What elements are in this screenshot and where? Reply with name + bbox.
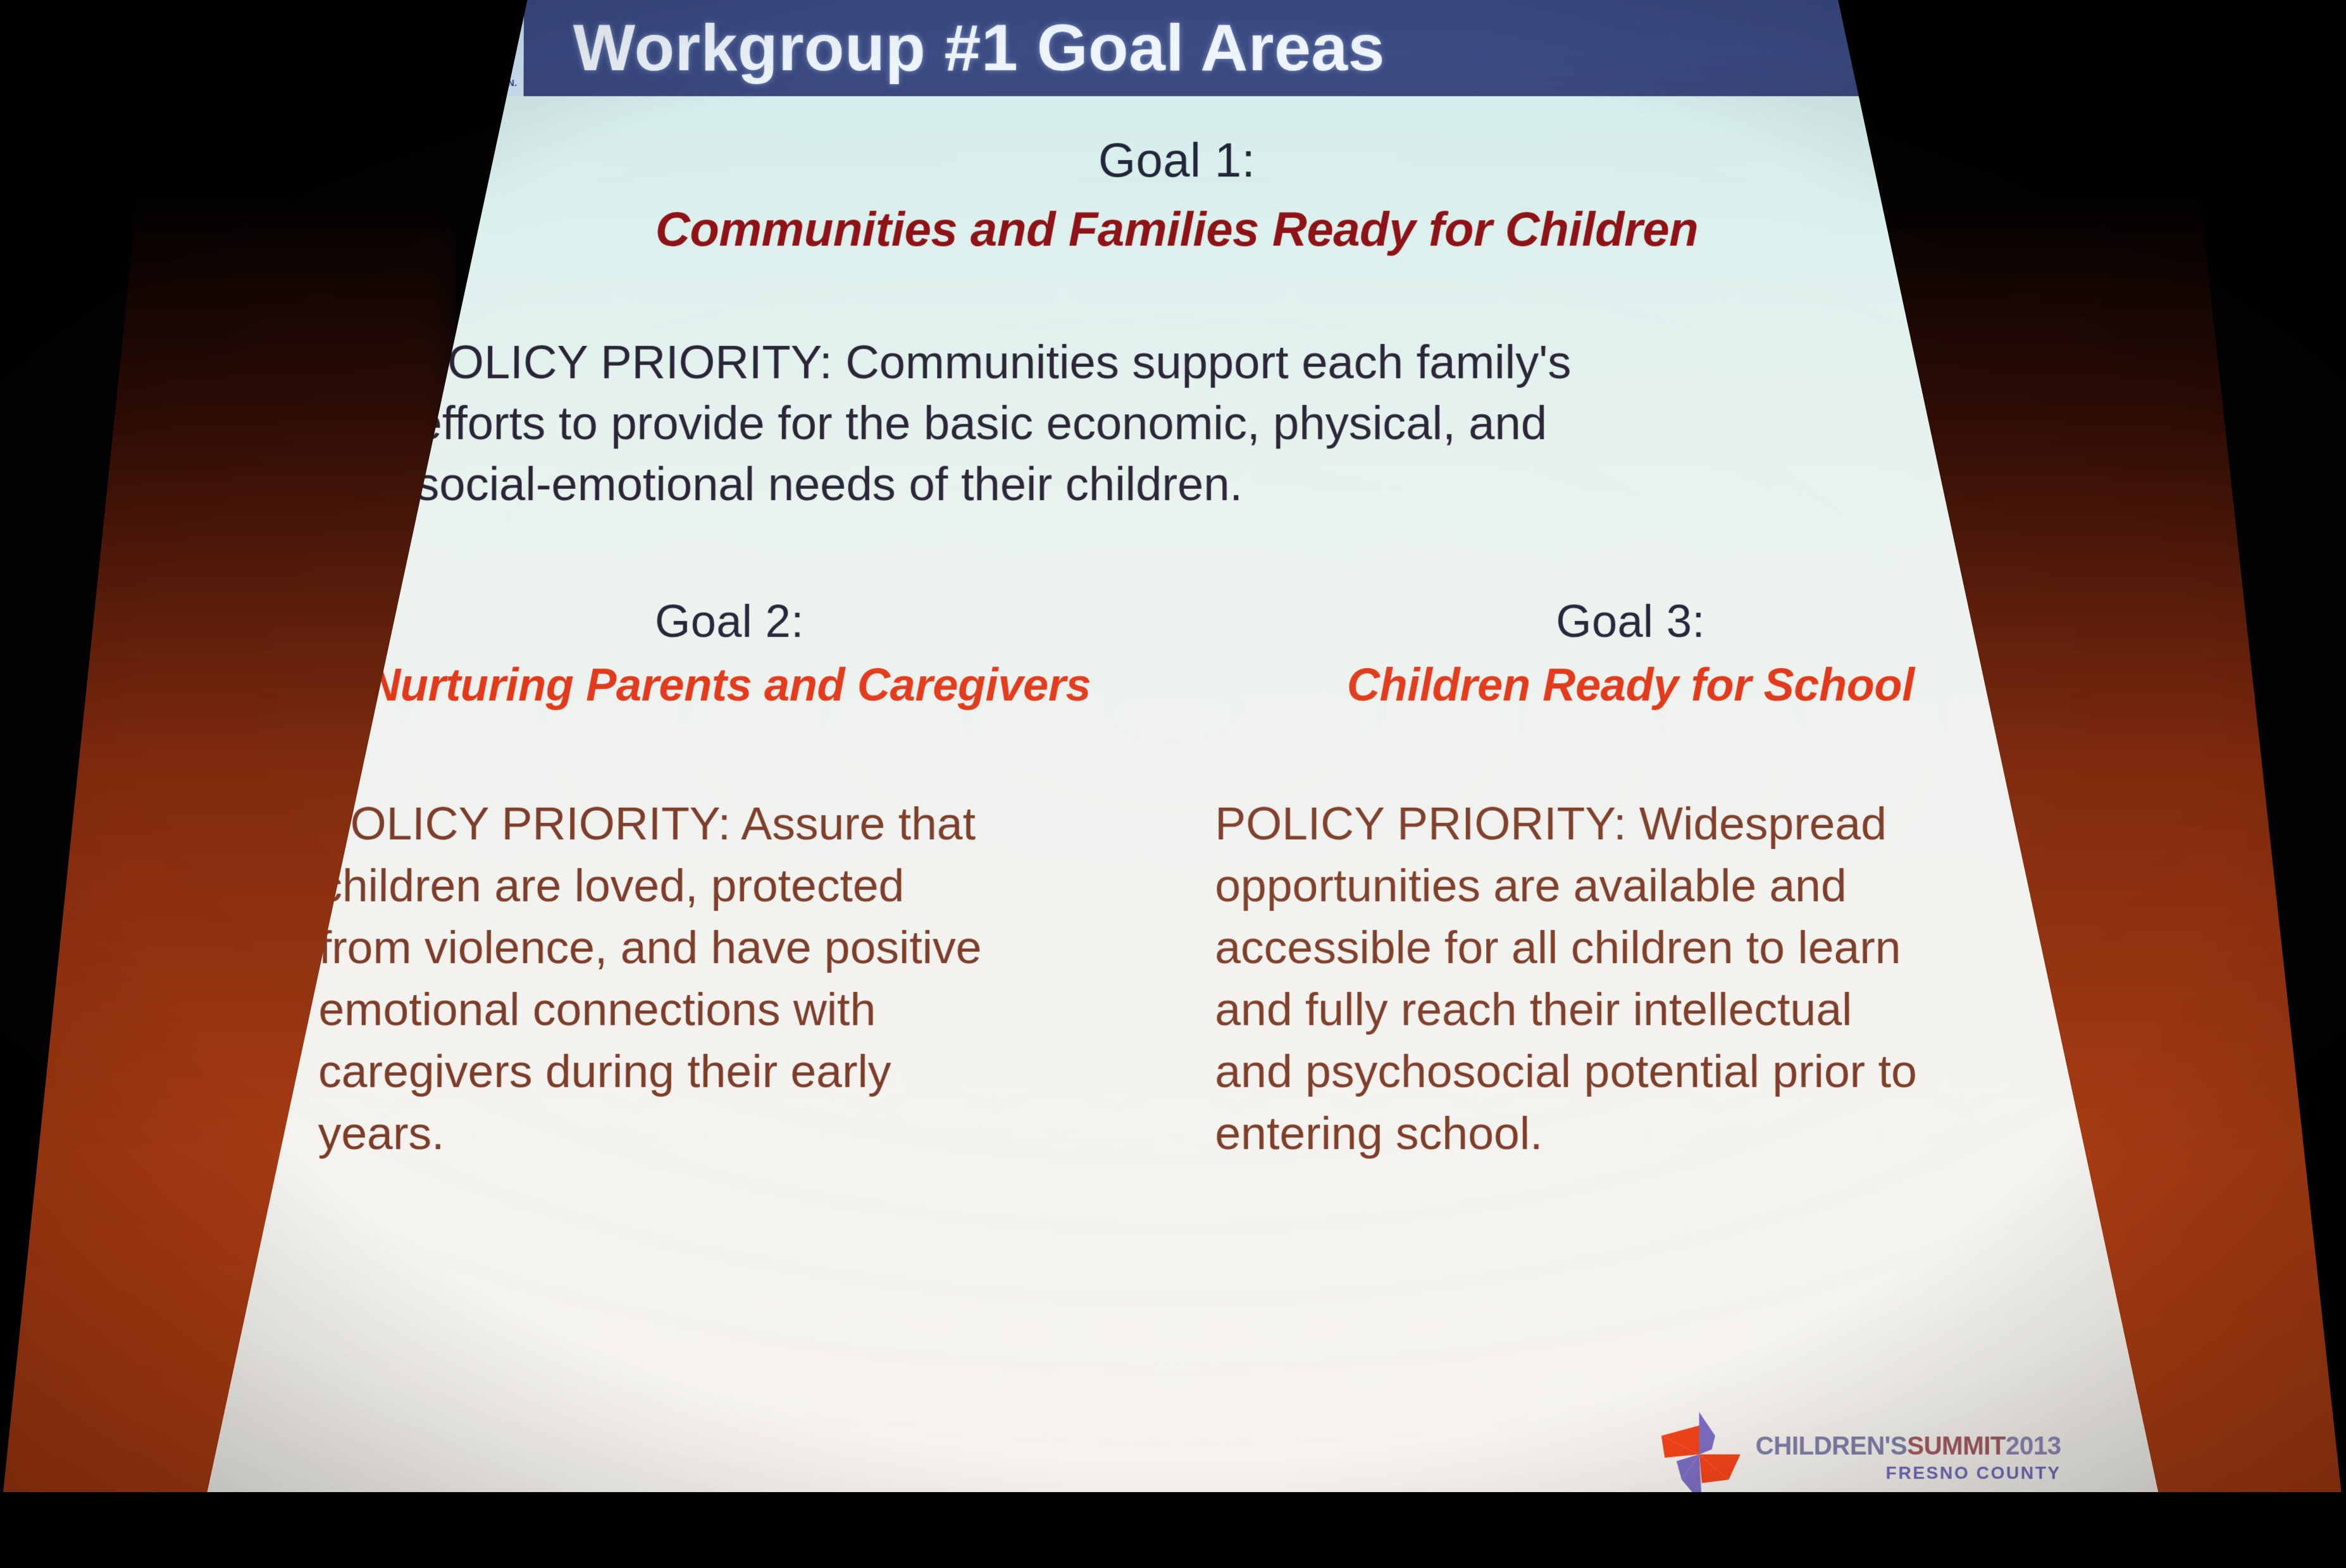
goal-2-kicker: Goal 2: [320,595,1139,647]
goal-2-section: Goal 2: Nurturing Parents and Caregivers… [299,595,1177,1164]
summit-brand-childrens: CHILDREN'S [1756,1433,1908,1461]
policy-line: from violence, and have positive [319,917,1139,978]
projected-slide: COLLECTIVE FOCUS. [190,0,2164,1518]
policy-line: children are loved, protected [319,855,1139,917]
collective-focus-logo: COLLECTIVE FOCUS. [314,0,524,96]
summit-wordmark: CHILDREN'SSUMMIT2013 FRESNO COUNTY [1756,1433,2061,1483]
policy-line: POLICY PRIORITY: Widespread [1215,793,2047,855]
childrens-summit-logo: CHILDREN'SSUMMIT2013 FRESNO COUNTY [1660,1410,2061,1506]
stage-floor [0,1492,2346,1568]
goal-1-kicker: Goal 1: [303,133,2051,188]
summit-brand-year: 2013 [2006,1433,2061,1461]
goal-3-kicker: Goal 3: [1215,595,2046,647]
slide-title-bar: COLLECTIVE FOCUS. [189,0,2164,96]
page-title: Workgroup #1 Goal Areas [573,10,1385,85]
policy-line: entering school. [1215,1102,2048,1164]
goal-1-section: Goal 1: Communities and Families Ready f… [302,133,2052,515]
summit-subtitle: FRESNO COUNTY [1756,1464,2061,1483]
goal-columns: Goal 2: Nurturing Parents and Caregivers… [299,595,2054,1164]
policy-line: emotional connections with [318,978,1138,1040]
slide-body: Goal 1: Communities and Families Ready f… [183,96,2171,1529]
policy-line: efforts to provide for the basic economi… [416,393,1975,454]
goal-1-title: Communities and Families Ready for Child… [302,202,2051,257]
goal-2-policy: POLICY PRIORITY: Assure that children ar… [318,793,1138,1164]
photo-stage: COLLECTIVE FOCUS. [0,0,2346,1568]
policy-line: years. [318,1102,1138,1164]
goal-3-policy: POLICY PRIORITY: Widespread opportunitie… [1215,793,2048,1164]
policy-line: opportunities are available and [1215,855,2047,917]
logo-top-label: COLLECTIVE FOCUS. [324,5,425,15]
goal-3-title: Children Ready for School [1215,659,2046,712]
goal-1-policy: POLICY PRIORITY: Communities support eac… [302,332,2052,515]
goal-2-title: Nurturing Parents and Caregivers [320,659,1138,712]
gears-icon [314,0,524,96]
policy-line: and psychosocial potential prior to [1215,1040,2048,1102]
logo-bottom-label: ALIGNED ACTION. [431,78,518,89]
policy-line: caregivers during their early [318,1040,1139,1102]
summit-brand-line: CHILDREN'SSUMMIT2013 [1756,1433,2061,1460]
policy-line: POLICY PRIORITY: Communities support eac… [416,332,1976,393]
policy-line: and fully reach their intellectual [1215,978,2048,1040]
policy-line: accessible for all children to learn [1215,917,2047,978]
slide-surface: COLLECTIVE FOCUS. [183,0,2171,1529]
policy-line: POLICY PRIORITY: Assure that [319,793,1138,855]
goal-3-section: Goal 3: Children Ready for School POLICY… [1177,595,2055,1164]
summit-brand-summit: SUMMIT [1907,1433,2006,1461]
policy-line: social-emotional needs of their children… [416,454,1976,515]
pinwheel-icon [1660,1410,1744,1506]
